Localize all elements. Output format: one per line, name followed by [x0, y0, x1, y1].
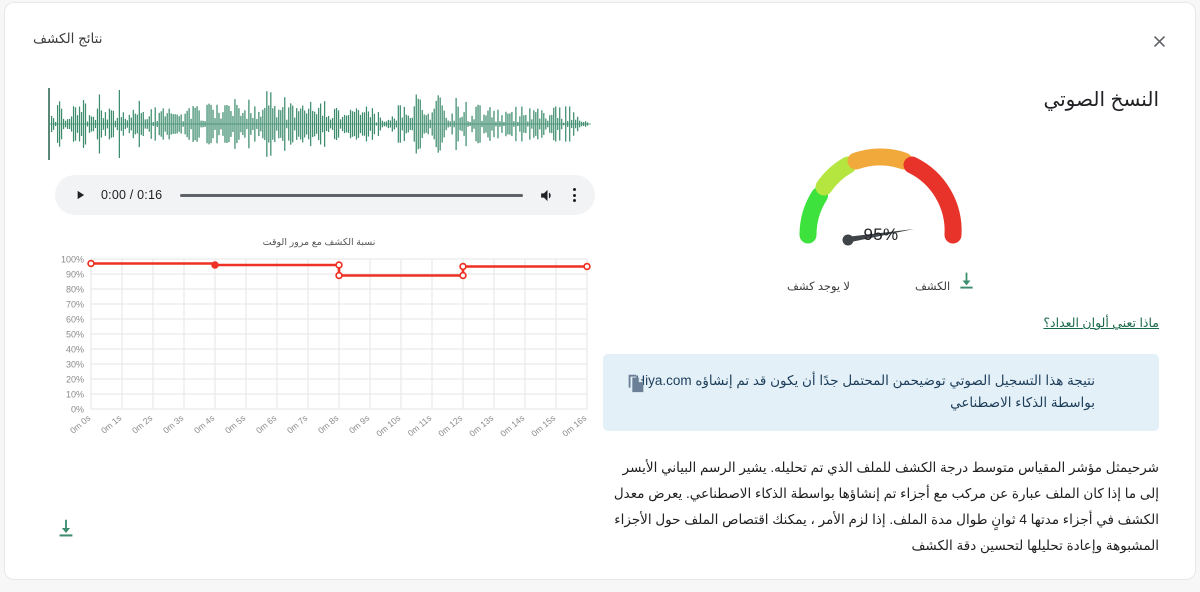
kebab-menu-icon[interactable] [563, 184, 585, 206]
ai-detection-callout: نتيجة هذا التسجيل الصوتي توضيحمن المحتمل… [603, 354, 1159, 431]
svg-text:0m 10s: 0m 10s [374, 413, 402, 439]
detection-rate-chart: نسبة الكشف مع مرور الوقت 100%90%80%70%60… [43, 237, 595, 487]
detection-gauge: 95% لا يوجد كشف الكشف [603, 117, 1159, 303]
svg-text:0m 7s: 0m 7s [285, 413, 309, 436]
dialog-header: نتائج الكشف [5, 3, 1195, 65]
svg-text:0m 8s: 0m 8s [316, 413, 340, 436]
svg-text:0m 14s: 0m 14s [498, 413, 526, 439]
svg-text:0m 6s: 0m 6s [254, 413, 278, 436]
transcription-panel: النسخ الصوتي 95% لا يوجد كشف الكشف [603, 87, 1159, 557]
download-icon[interactable] [953, 270, 977, 294]
svg-text:60%: 60% [66, 315, 84, 325]
svg-text:40%: 40% [66, 345, 84, 355]
svg-text:0m 5s: 0m 5s [223, 413, 247, 436]
gauge-colors-help-link[interactable]: ماذا تعني ألوان العداد؟ [1043, 315, 1159, 330]
player-time: 0:00 / 0:16 [101, 188, 162, 202]
svg-text:0m 15s: 0m 15s [529, 413, 557, 439]
chart-svg[interactable]: 100%90%80%70%60%50%40%30%20%10%0%0m 0s0m… [43, 251, 595, 481]
gauge-percent-label: 95% [864, 225, 899, 245]
gauge-label-detection: الكشف [915, 279, 950, 293]
play-icon[interactable] [71, 186, 89, 204]
svg-text:50%: 50% [66, 330, 84, 340]
download-icon[interactable] [51, 517, 77, 543]
audio-analysis-panel: 0:00 / 0:16 نسبة الكشف مع مرور الوقت 100… [39, 85, 595, 555]
svg-text:30%: 30% [66, 360, 84, 370]
svg-text:0m 12s: 0m 12s [436, 413, 464, 439]
waveform-svg [43, 85, 595, 163]
svg-text:0m 4s: 0m 4s [192, 413, 216, 436]
svg-text:70%: 70% [66, 300, 84, 310]
svg-text:0m 9s: 0m 9s [347, 413, 371, 436]
svg-text:80%: 80% [66, 285, 84, 295]
svg-text:0m 11s: 0m 11s [406, 413, 434, 438]
svg-text:20%: 20% [66, 375, 84, 385]
page-title: نتائج الكشف [33, 31, 103, 47]
svg-text:0m 2s: 0m 2s [130, 413, 154, 436]
volume-icon[interactable] [537, 185, 557, 205]
svg-text:0m 3s: 0m 3s [161, 413, 185, 436]
svg-text:90%: 90% [66, 270, 84, 280]
gauge-label-no-detection: لا يوجد كشف [787, 279, 850, 293]
svg-text:10%: 10% [66, 390, 84, 400]
detection-results-card: نتائج الكشف 0:00 / 0:16 [4, 2, 1196, 580]
player-progress-slider[interactable] [180, 194, 523, 197]
svg-text:0m 1s: 0m 1s [99, 413, 123, 436]
svg-text:0m 13s: 0m 13s [467, 413, 495, 439]
audio-waveform[interactable] [43, 85, 595, 163]
description-text: شرحيمثل مؤشر المقياس متوسط درجة الكشف لل… [603, 455, 1159, 560]
close-icon[interactable] [1143, 25, 1175, 57]
audio-player[interactable]: 0:00 / 0:16 [55, 175, 595, 215]
svg-text:0m 16s: 0m 16s [560, 413, 588, 439]
callout-text: نتيجة هذا التسجيل الصوتي توضيحمن المحتمل… [621, 370, 1095, 415]
transcript-heading: النسخ الصوتي [603, 87, 1159, 113]
svg-text:0m 0s: 0m 0s [68, 413, 92, 436]
chart-title: نسبة الكشف مع مرور الوقت [43, 237, 595, 248]
svg-text:0%: 0% [71, 405, 84, 415]
copy-documents-icon[interactable] [623, 372, 647, 396]
svg-text:100%: 100% [61, 255, 84, 265]
